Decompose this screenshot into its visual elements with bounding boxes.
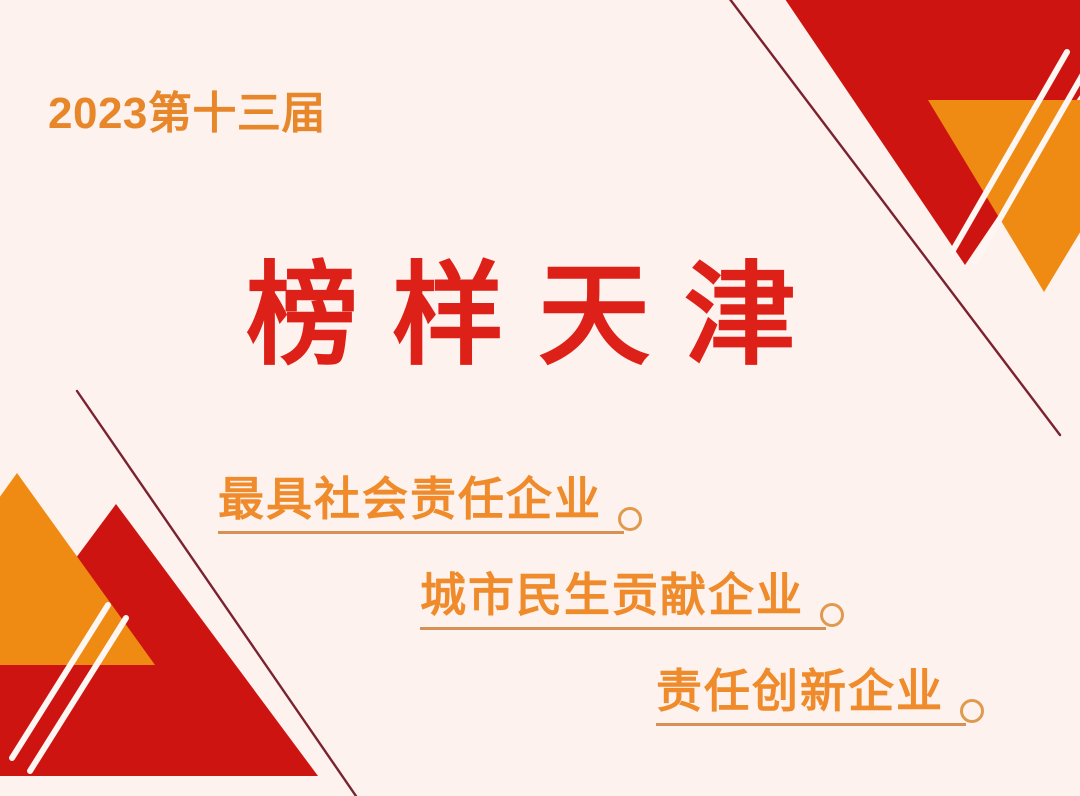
award-category-text-wrap: 最具社会责任企业 <box>218 476 602 534</box>
top-right-white-stripe-2 <box>975 62 1080 262</box>
award-underline <box>420 627 826 630</box>
bottom-left-white-stripe-1 <box>12 605 108 758</box>
bottom-left-white-stripe-2 <box>30 618 126 771</box>
award-category-item: 最具社会责任企业 <box>218 476 642 534</box>
award-category-label: 城市民生贡献企业 <box>420 572 804 618</box>
top-right-white-stripe-1 <box>952 52 1067 252</box>
poster-main-title: 榜样天津 <box>246 256 830 377</box>
award-underline <box>218 531 624 534</box>
left-thin-diagonal-line <box>77 391 356 796</box>
award-circle-marker-icon <box>960 699 984 723</box>
award-category-item: 责任创新企业 <box>656 668 984 726</box>
top-right-orange-triangle <box>928 100 1080 292</box>
award-category-label: 责任创新企业 <box>656 668 944 714</box>
event-edition-label: 2023第十三届 <box>48 92 326 136</box>
poster-canvas: 2023第十三届 榜样天津 最具社会责任企业 城市民生贡献企业 责任创新企业 <box>0 0 1080 796</box>
award-underline <box>656 723 966 726</box>
award-category-item: 城市民生贡献企业 <box>420 572 844 630</box>
award-circle-marker-icon <box>820 603 844 627</box>
top-right-red-triangle <box>745 0 1080 265</box>
award-category-text-wrap: 责任创新企业 <box>656 668 944 726</box>
bottom-left-orange-triangle <box>0 473 155 665</box>
award-category-label: 最具社会责任企业 <box>218 476 602 522</box>
award-category-text-wrap: 城市民生贡献企业 <box>420 572 804 630</box>
award-circle-marker-icon <box>618 507 642 531</box>
bottom-left-red-triangle <box>0 504 318 776</box>
